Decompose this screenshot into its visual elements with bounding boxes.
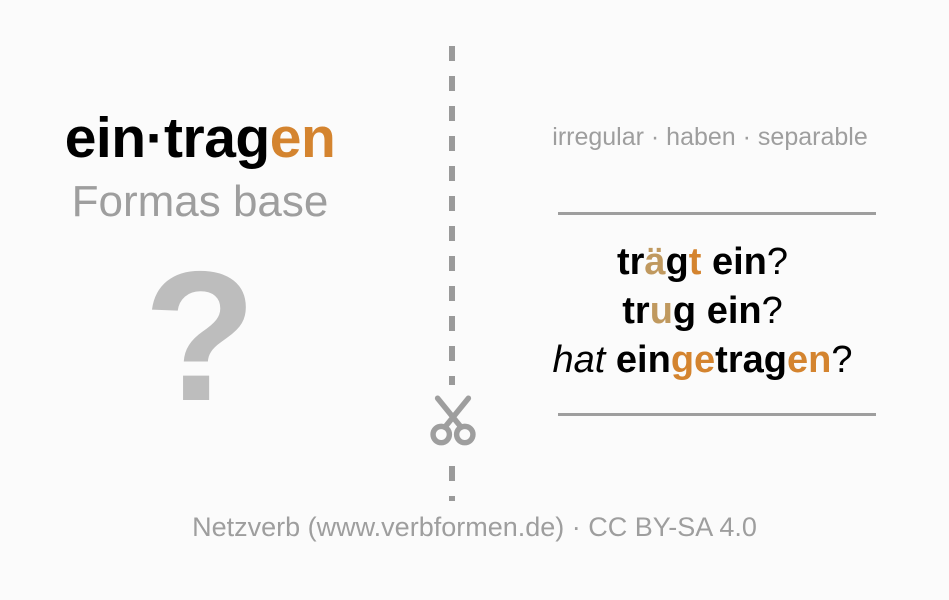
form-seg-question: ?: [831, 339, 852, 381]
form-seg-accent2: ä: [644, 241, 665, 283]
verb-attributes: irregular · haben · separable: [530, 120, 890, 155]
flashcard-back: irregular · haben · separable trägt ein?…: [470, 0, 949, 600]
form-seg-accent: en: [787, 339, 831, 381]
flashcard-front: ein·tragen Formas base ?: [0, 0, 435, 600]
form-seg: ein: [696, 290, 761, 332]
verb-form-present: trägt ein?: [470, 238, 935, 287]
form-seg-question: ?: [762, 290, 783, 332]
verb-title-stem: ein·trag: [65, 106, 270, 170]
form-seg-question: ?: [767, 241, 788, 283]
form-seg: tr: [622, 290, 649, 332]
divider-bottom: [558, 413, 876, 416]
verb-form-preterite: trug ein?: [470, 287, 935, 336]
form-seg-accent: ge: [671, 339, 715, 381]
form-seg-accent2: u: [650, 290, 673, 332]
form-seg: ein: [616, 339, 671, 381]
footer-attribution: Netzverb (www.verbformen.de) · CC BY-SA …: [0, 512, 949, 543]
form-seg: trag: [715, 339, 787, 381]
form-seg: g: [666, 241, 689, 283]
verb-subtitle: Formas base: [0, 177, 400, 227]
divider-top: [558, 212, 876, 215]
form-seg: g: [673, 290, 696, 332]
form-seg-accent: t: [689, 241, 702, 283]
question-mark-glyph: ?: [0, 245, 400, 430]
verb-forms-list: trägt ein? trug ein? hat eingetragen?: [470, 238, 935, 385]
form-seg: tr: [617, 241, 644, 283]
form-seg: ein: [701, 241, 766, 283]
form-seg-auxiliary: hat: [553, 339, 616, 381]
verb-title: ein·tragen: [0, 105, 400, 171]
verb-flashcard: ein·tragen Formas base ? irregular · hab…: [0, 0, 949, 600]
verb-form-perfect: hat eingetragen?: [470, 336, 935, 385]
verb-title-ending: en: [270, 106, 336, 170]
